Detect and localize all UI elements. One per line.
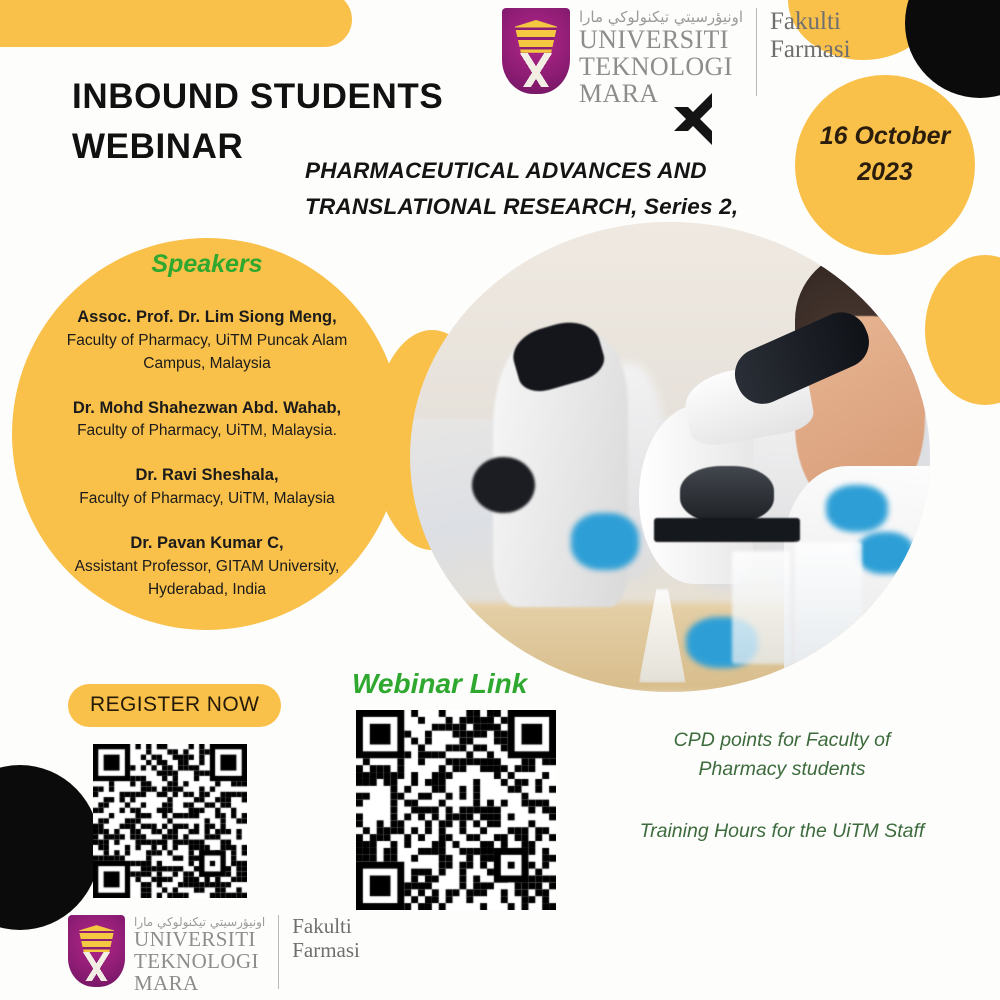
event-date-line-2: 2023	[795, 154, 975, 190]
subtitle-line-2: TRANSLATIONAL RESEARCH, Series 2,	[305, 189, 825, 225]
poster-canvas: INBOUND STUDENTS WEBINAR PHARMACEUTICAL …	[0, 0, 1000, 1000]
logo-divider	[756, 8, 757, 96]
faculty-line-1: Fakulti	[292, 915, 360, 939]
subtitle-line-1: PHARMACEUTICAL ADVANCES AND	[305, 153, 825, 189]
list-item: Assoc. Prof. Dr. Lim Siong Meng, Faculty…	[22, 305, 392, 376]
faculty-line-1: Fakulti	[770, 8, 851, 36]
uitm-latin-line-3: MARA	[579, 80, 743, 107]
notes-line-3: Training Hours for the UiTM Staff	[596, 817, 968, 846]
page-subtitle: PHARMACEUTICAL ADVANCES AND TRANSLATIONA…	[305, 153, 825, 226]
list-item: Dr. Mohd Shahezwan Abd. Wahab, Faculty o…	[22, 396, 392, 444]
faculty-name-footer: Fakulti Farmasi	[292, 915, 360, 962]
event-date-badge: 16 October 2023	[795, 118, 975, 191]
event-date-line-1: 16 October	[795, 118, 975, 154]
uitm-crest-icon	[502, 8, 570, 94]
microscope-photo	[410, 222, 930, 692]
list-item: Dr. Pavan Kumar C, Assistant Professor, …	[22, 531, 392, 602]
register-now-button[interactable]: REGISTER NOW	[68, 684, 281, 727]
speaker-affiliation-line-2: Hyderabad, India	[22, 579, 392, 602]
register-qr-code[interactable]	[93, 744, 247, 898]
speaker-name: Assoc. Prof. Dr. Lim Siong Meng,	[22, 305, 392, 330]
title-line-1: INBOUND STUDENTS	[72, 72, 502, 122]
decor-top-yellow-bar	[0, 0, 352, 47]
speakers-heading: Speakers	[12, 250, 402, 279]
uitm-latin-line-2: TEKNOLOGI	[579, 53, 743, 80]
list-item: Dr. Ravi Sheshala, Faculty of Pharmacy, …	[22, 463, 392, 511]
faculty-line-2: Farmasi	[292, 939, 360, 963]
uitm-latin-line-1: UNIVERSITI	[134, 929, 265, 951]
speaker-affiliation-line-1: Assistant Professor, GITAM University,	[22, 556, 392, 579]
speaker-affiliation-line-1: Faculty of Pharmacy, UiTM, Malaysia	[22, 488, 392, 511]
speaker-name: Dr. Mohd Shahezwan Abd. Wahab,	[22, 396, 392, 421]
speaker-affiliation-line-1: Faculty of Pharmacy, UiTM, Malaysia.	[22, 420, 392, 443]
speaker-affiliation-line-1: Faculty of Pharmacy, UiTM Puncak Alam	[22, 330, 392, 353]
uitm-latin-line-1: UNIVERSITI	[579, 26, 743, 53]
logo-divider	[278, 915, 279, 989]
notes-block: CPD points for Faculty of Pharmacy stude…	[596, 726, 968, 846]
webinar-link-qr-code[interactable]	[356, 710, 556, 910]
decor-yellow-blob-right	[925, 255, 1000, 405]
notes-line-2: Pharmacy students	[596, 755, 968, 784]
webinar-link-heading: Webinar Link	[352, 668, 527, 700]
speaker-name: Dr. Pavan Kumar C,	[22, 531, 392, 556]
uitm-latin-line-3: MARA	[134, 973, 265, 995]
uitm-latin-line-2: TEKNOLOGI	[134, 951, 265, 973]
faculty-line-2: Farmasi	[770, 36, 851, 64]
uitm-logo-footer: اونيؤرسيتي تيكنولوكي مارا UNIVERSITI TEK…	[68, 915, 360, 994]
speaker-affiliation-line-2: Campus, Malaysia	[22, 353, 392, 376]
uitm-crest-icon	[68, 915, 125, 987]
flutter-logo-icon	[672, 92, 716, 146]
uitm-arabic-wordmark: اونيؤرسيتي تيكنولوكي مارا	[579, 8, 743, 26]
footer: اونيؤرسيتي تيكنولوكي مارا UNIVERSITI TEK…	[0, 895, 1000, 1000]
notes-line-1: CPD points for Faculty of	[596, 726, 968, 755]
speakers-list: Assoc. Prof. Dr. Lim Siong Meng, Faculty…	[22, 305, 392, 622]
speaker-name: Dr. Ravi Sheshala,	[22, 463, 392, 488]
faculty-name-header: Fakulti Farmasi	[770, 8, 851, 64]
